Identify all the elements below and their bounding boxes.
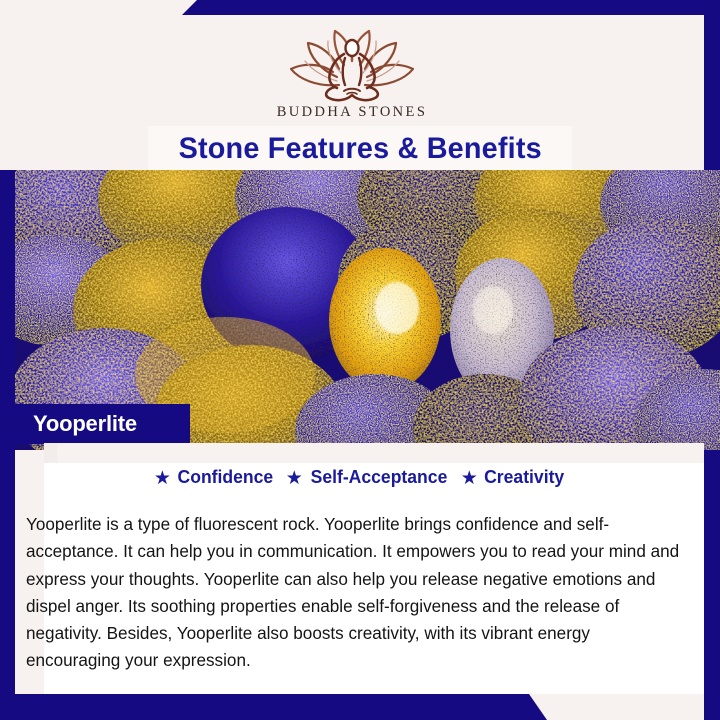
stone-feature-card: BUDDHA STONES Stone Features & Benefits — [0, 0, 720, 720]
navy-bottom-bar — [0, 694, 720, 720]
stone-description: Yooperlite is a type of fluorescent rock… — [26, 511, 686, 675]
star-icon: ★ — [154, 468, 171, 489]
panel-left-strip — [44, 443, 57, 463]
benefits-list: ★Confidence★Self-Acceptance★Creativity — [15, 466, 705, 489]
brand-logo: BUDDHA STONES — [277, 25, 428, 121]
lotus-meditation-icon — [277, 25, 427, 103]
brand-name: BUDDHA STONES — [277, 104, 428, 121]
benefit-item-self-acceptance: Self-Acceptance — [310, 466, 447, 488]
navy-top-bar — [0, 0, 720, 15]
page-title-band: Stone Features & Benefits — [148, 126, 572, 171]
page-title: Stone Features & Benefits — [178, 132, 541, 166]
panel-top-strip — [44, 443, 704, 463]
star-icon: ★ — [286, 468, 303, 489]
stone-name: Yooperlite — [33, 411, 137, 437]
benefit-item-creativity: Creativity — [484, 466, 564, 488]
stone-name-banner: Yooperlite — [0, 404, 190, 444]
benefit-item-confidence: Confidence — [177, 466, 273, 488]
star-icon: ★ — [461, 468, 478, 489]
